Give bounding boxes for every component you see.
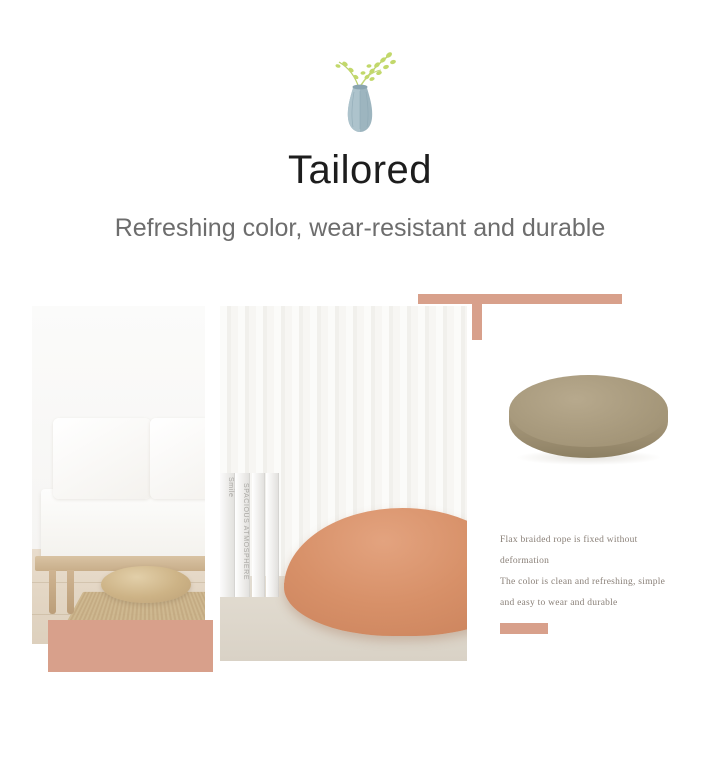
sofa-leg — [67, 570, 74, 614]
page-title: Tailored — [0, 150, 720, 190]
description-line: deformation — [500, 551, 700, 572]
book-spine — [266, 473, 278, 597]
accent-bar-description — [500, 623, 548, 634]
page-header: Tailored Refreshing color, wear-resistan… — [0, 0, 720, 241]
accent-bar-horizontal — [418, 294, 622, 304]
description-line: The color is clean and refreshing, simpl… — [500, 572, 700, 593]
sofa-seat — [41, 489, 205, 563]
book-stack: Smile SPACIOUS ATMOSPHERE — [220, 473, 292, 597]
sofa-cushion — [53, 418, 152, 499]
book-title-spacious-atmosphere: SPACIOUS ATMOSPHERE — [242, 483, 249, 580]
cushion-scene: Smile SPACIOUS ATMOSPHERE — [220, 306, 467, 661]
product-description: Flax braided rope is fixed without defor… — [500, 530, 700, 634]
book-spine — [252, 473, 266, 597]
living-room-scene — [32, 306, 205, 644]
cushion-scene-photo[interactable]: Smile SPACIOUS ATMOSPHERE — [220, 306, 467, 661]
sofa-cushion — [150, 418, 205, 499]
product-shot-photo[interactable] — [487, 328, 690, 508]
description-line: Flax braided rope is fixed without — [500, 530, 700, 551]
vase-with-branch-illustration-icon — [305, 42, 415, 134]
book-spine: SPACIOUS ATMOSPHERE — [235, 473, 250, 597]
living-room-photo[interactable] — [32, 306, 205, 644]
product-shot-scene — [487, 328, 690, 508]
book-spine: Smile — [220, 473, 235, 597]
book-title-smile: Smile — [227, 477, 234, 498]
page-subtitle: Refreshing color, wear-resistant and dur… — [0, 216, 720, 241]
accent-frame-living-room — [48, 620, 213, 672]
sofa-leg — [49, 570, 56, 614]
description-line: and easy to wear and durable — [500, 593, 700, 614]
accent-bar-vertical — [472, 294, 482, 340]
taupe-cushion-top — [509, 375, 667, 447]
